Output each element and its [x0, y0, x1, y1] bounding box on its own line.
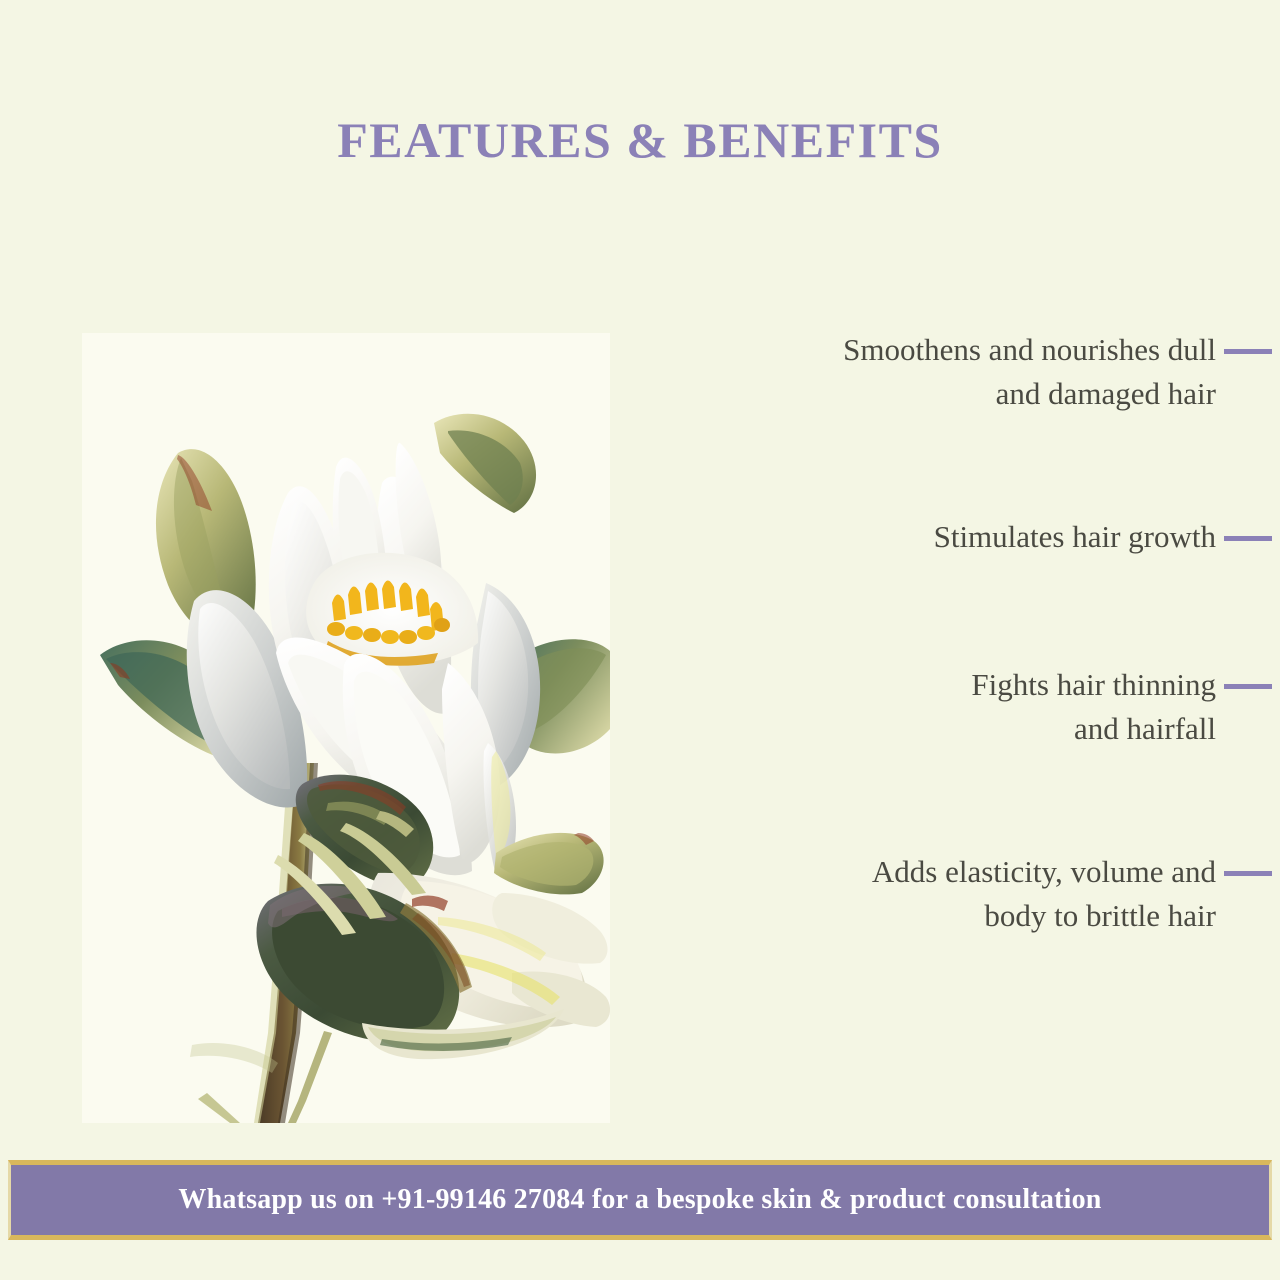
dash-marker-icon	[1224, 536, 1272, 541]
dash-marker-icon	[1224, 349, 1272, 354]
benefits-list: Smoothens and nourishes dull and damaged…	[630, 310, 1280, 1010]
whatsapp-cta-bar[interactable]: Whatsapp us on +91-99146 27084 for a bes…	[8, 1160, 1272, 1240]
page-title: FEATURES & BENEFITS	[0, 115, 1280, 165]
benefit-text: Stimulates hair growth	[934, 515, 1224, 559]
benefit-item: Fights hair thinning and hairfall	[630, 663, 1280, 751]
page-root: FEATURES & BENEFITS	[0, 0, 1280, 1280]
benefit-text: Adds elasticity, volume and body to brit…	[872, 850, 1224, 938]
lotus-illustration-svg	[82, 333, 610, 1123]
flower-illustration	[82, 333, 610, 1123]
dash-marker-icon	[1224, 871, 1272, 876]
benefit-text: Smoothens and nourishes dull and damaged…	[843, 328, 1224, 416]
benefit-item: Smoothens and nourishes dull and damaged…	[630, 328, 1280, 416]
dash-marker-icon	[1224, 684, 1272, 689]
whatsapp-cta-text: Whatsapp us on +91-99146 27084 for a bes…	[178, 1184, 1101, 1216]
benefit-text: Fights hair thinning and hairfall	[971, 663, 1224, 751]
benefit-item: Stimulates hair growth	[630, 515, 1280, 559]
benefit-item: Adds elasticity, volume and body to brit…	[630, 850, 1280, 938]
